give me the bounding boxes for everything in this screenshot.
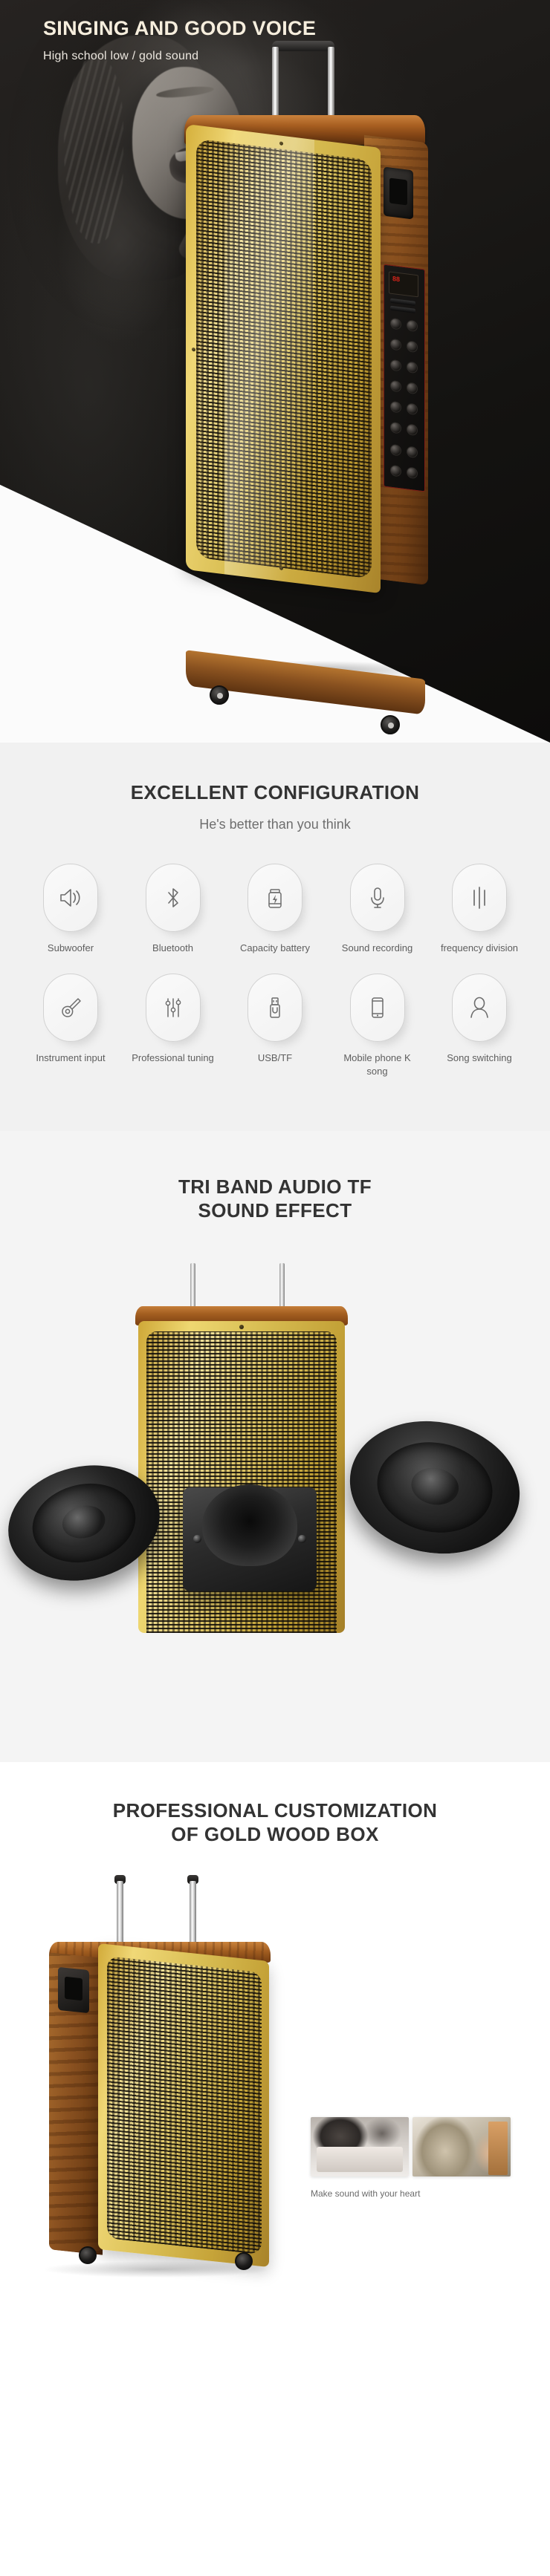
control-knob [390, 339, 401, 351]
hero-title: SINGING AND GOOD VOICE [43, 16, 316, 40]
feature-label: Instrument input [27, 1051, 114, 1065]
goldbox-title: PROFESSIONAL CUSTOMIZATION OF GOLD WOOD … [0, 1799, 550, 1846]
speaker-side-handle [384, 167, 413, 220]
speaker-grille-mesh [196, 139, 372, 579]
goldbox-section: PROFESSIONAL CUSTOMIZATION OF GOLD WOOD … [0, 1762, 550, 2326]
frequency-bars-icon [452, 864, 507, 932]
control-knob [407, 402, 418, 415]
caster-wheel [210, 685, 229, 705]
goldbox-speaker-image [49, 1881, 272, 2275]
trolley-rod-right [190, 1881, 196, 1945]
lifestyle-photo-guitar [412, 2117, 511, 2176]
front-indicator-dot [239, 1325, 244, 1329]
person-icon [452, 974, 507, 1042]
hero-text-block: SINGING AND GOOD VOICE High school low /… [43, 16, 316, 63]
horn-screw [298, 1535, 306, 1543]
control-knob [407, 319, 418, 332]
control-knob [390, 422, 401, 434]
goldbox-title-line2: OF GOLD WOOD BOX [171, 1823, 378, 1845]
feature-label: Sound recording [334, 942, 421, 955]
triband-title: TRI BAND AUDIO TF SOUND EFFECT [0, 1175, 550, 1222]
triband-section: TRI BAND AUDIO TF SOUND EFFECT [0, 1131, 550, 1762]
hero-product-image: 88 [184, 41, 430, 709]
trolley-rod-left [190, 1263, 195, 1309]
speaker-side-handle [58, 1967, 89, 2013]
triband-product-stage [0, 1250, 550, 1725]
bluetooth-icon [146, 864, 201, 932]
control-knob [390, 359, 401, 372]
trolley-rod-right [279, 1263, 285, 1309]
feature-label: Capacity battery [231, 942, 319, 955]
feature-row: Subwoofer Bluetooth [24, 864, 526, 955]
mobile-phone-icon [350, 974, 405, 1042]
usb-drive-icon [247, 974, 302, 1042]
control-knob [390, 401, 401, 414]
feature-item-bluetooth[interactable]: Bluetooth [126, 864, 220, 955]
speaker-grille-mesh [107, 1956, 262, 2254]
configuration-title: EXCELLENT CONFIGURATION [0, 781, 550, 805]
configuration-section: EXCELLENT CONFIGURATION He's better than… [0, 743, 550, 1131]
trolley-rod-right [328, 47, 334, 121]
feature-label: Bluetooth [129, 942, 217, 955]
goldbox-caption: Make sound with your heart [311, 2188, 519, 2199]
feature-label: Song switching [436, 1051, 523, 1065]
guitar-icon [43, 974, 98, 1042]
panel-slot [390, 306, 415, 313]
feature-item-professional-tuning[interactable]: Professional tuning [126, 974, 220, 1077]
microphone-icon [350, 864, 405, 932]
lifestyle-photo-workshop [311, 2117, 409, 2176]
horn-mouth [202, 1484, 297, 1566]
face-screw [279, 566, 283, 570]
goldbox-product-stage: Make sound with your heart [0, 1881, 550, 2297]
control-knob [407, 382, 418, 394]
control-knob [407, 446, 418, 458]
control-knob [390, 465, 401, 477]
feature-item-capacity-battery[interactable]: Capacity battery [228, 864, 322, 955]
control-knob [407, 340, 418, 353]
configuration-subtitle: He's better than you think [0, 817, 550, 832]
equalizer-sliders-icon [146, 974, 201, 1042]
lifestyle-photo-group [311, 2117, 511, 2176]
lifestyle-photo-row [311, 2117, 511, 2176]
control-panel: 88 [384, 264, 425, 492]
feature-item-instrument-input[interactable]: Instrument input [24, 974, 117, 1077]
speaker-body: 88 [186, 136, 424, 581]
trolley-rod-left [117, 1881, 123, 1945]
woofer-driver-right [338, 1406, 531, 1568]
control-knob [407, 361, 418, 374]
feature-label: USB/TF [231, 1051, 319, 1065]
control-knob [390, 444, 401, 457]
feature-label: Mobile phone K song [334, 1051, 421, 1077]
goldbox-title-line1: PROFESSIONAL CUSTOMIZATION [113, 1799, 438, 1822]
feature-item-song-switching[interactable]: Song switching [433, 974, 526, 1077]
feature-label: Subwoofer [27, 942, 114, 955]
feature-item-sound-recording[interactable]: Sound recording [331, 864, 424, 955]
hero-section: SINGING AND GOOD VOICE High school low /… [0, 0, 550, 743]
control-knob [390, 318, 401, 330]
horn-tweeter [183, 1487, 317, 1591]
panel-slot [390, 299, 415, 306]
speaker-front-face [186, 124, 381, 593]
panel-display: 88 [389, 271, 418, 297]
goldbox-product-shadow [45, 2261, 268, 2277]
control-knob [390, 380, 401, 393]
speaker-front-face [98, 1943, 269, 2267]
face-screw [279, 141, 283, 146]
speaker-wood-base [186, 650, 425, 715]
product-detail-page: SINGING AND GOOD VOICE High school low /… [0, 0, 550, 2326]
feature-item-frequency-division[interactable]: frequency division [433, 864, 526, 955]
feature-label: frequency division [436, 942, 523, 955]
caster-wheel [381, 715, 400, 734]
feature-icon-grid: Subwoofer Bluetooth [24, 864, 526, 1078]
hero-subtitle: High school low / gold sound [43, 50, 316, 63]
feature-item-mobile-phone-k-song[interactable]: Mobile phone K song [331, 974, 424, 1077]
horn-screw [193, 1535, 201, 1543]
speaker-volume-icon [43, 864, 98, 932]
triband-title-line2: SOUND EFFECT [198, 1199, 352, 1222]
face-screw [192, 348, 195, 352]
triband-title-line1: TRI BAND AUDIO TF [178, 1175, 372, 1198]
control-knob [407, 423, 418, 436]
battery-icon [247, 864, 302, 932]
control-knob [407, 466, 418, 479]
feature-item-subwoofer[interactable]: Subwoofer [24, 864, 117, 955]
feature-row: Instrument input Professional tuning [24, 974, 526, 1077]
feature-label: Professional tuning [129, 1051, 217, 1065]
feature-item-usb-tf[interactable]: USB/TF [228, 974, 322, 1077]
